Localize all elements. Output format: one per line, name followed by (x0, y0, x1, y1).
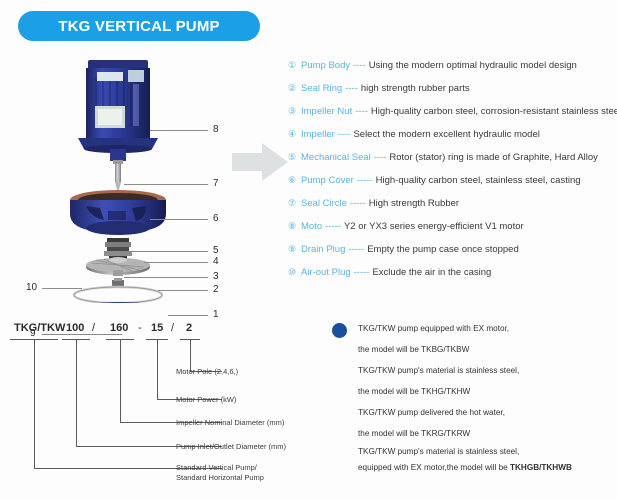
impeller-nut-part (112, 278, 124, 286)
legend-desc-10: Exclude the air in the casing (372, 267, 491, 278)
legend-dashes-3: ---- (355, 106, 368, 117)
note-line-6: the model will be TKRG/TKRW (358, 423, 614, 444)
pump-body-part (54, 302, 186, 303)
legend-part-6: Pump Cover (301, 175, 354, 186)
callout-number-4: 4 (213, 257, 219, 267)
model-code-diagram: TKG/TKW 100 160 15 2 / - / Motor Pole (2… (0, 305, 320, 500)
legend-item-9: ⑨ Drain Plug ----- Empty the pump case o… (288, 244, 613, 267)
page-title: TKG VERTICAL PUMP (58, 18, 219, 35)
legend-index-4: ④ (288, 129, 301, 140)
code-token-series: TKG/TKW (14, 323, 65, 334)
legend-part-1: Pump Body (301, 60, 350, 71)
callout-number-7: 7 (213, 179, 219, 189)
legend-dashes-10: ----- (354, 267, 370, 278)
code-token-motor-power: 15 (151, 323, 163, 334)
legend-item-10: ⑩ Air-out Plug ----- Exclude the air in … (288, 267, 613, 290)
model-naming-notes: TKG/TKW pump equipped with EX motor, the… (332, 318, 614, 476)
legend-dashes-7: ----- (350, 198, 366, 209)
pump-exploded-figure: 8 7 6 5 4 3 2 1 10 9 (0, 48, 250, 303)
code-label-standard-horizontal: Standard Horizontal Pump (176, 473, 264, 483)
callout-line-8 (150, 130, 208, 131)
bullet-dot-icon (332, 323, 347, 338)
legend-part-8: Moto (301, 221, 322, 232)
legend-item-4: ④ Impeller ---- Select the modern excell… (288, 129, 613, 152)
note-line-8: equipped with EX motor,the model will be… (358, 460, 614, 476)
note-line-3: TKG/TKW pump's material is stainless ste… (358, 360, 614, 381)
seal-ring-part (74, 287, 162, 303)
legend-item-7: ⑦ Seal Circle ----- High strength Rubber (288, 198, 613, 221)
motor-part (78, 60, 158, 153)
legend-item-5: ⑤ Mechanical Seal ---- Rotor (stator) ri… (288, 152, 613, 175)
callout-line-4 (144, 262, 208, 263)
note-line-4: the model will be TKHG/TKHW (358, 381, 614, 402)
callout-line-10 (42, 288, 82, 289)
legend-desc-4: Select the modern excellent hydraulic mo… (353, 129, 539, 140)
callout-number-10: 10 (26, 283, 37, 293)
note-line-2: the model will be TKBG/TKBW (358, 339, 614, 360)
impeller-part (86, 257, 150, 276)
legend-desc-9: Empty the pump case once stopped (367, 244, 519, 255)
legend-dashes-2: ---- (345, 83, 358, 94)
legend-index-7: ⑦ (288, 198, 301, 209)
legend-part-5: Mechanical Seal (301, 152, 371, 163)
callout-number-2: 2 (213, 285, 219, 295)
mechanical-seal-part (104, 238, 132, 259)
callout-line-7 (124, 184, 208, 185)
parts-legend-list: ① Pump Body ---- Using the modern optima… (288, 60, 613, 290)
legend-index-8: ⑧ (288, 221, 301, 232)
note-line-7: TKG/TKW pump's material is stainless ste… (358, 444, 614, 460)
legend-item-1: ① Pump Body ---- Using the modern optima… (288, 60, 613, 83)
legend-index-5: ⑤ (288, 152, 301, 163)
code-token-impeller-diameter: 160 (110, 323, 128, 334)
legend-dashes-1: ---- (353, 60, 366, 71)
callout-line-5 (126, 251, 208, 252)
note-line-8-text: equipped with EX motor,the model will be (358, 463, 510, 472)
note-line-8-model: TKHGB/TKHWB (510, 463, 572, 472)
legend-index-6: ⑥ (288, 175, 301, 186)
code-label-impeller-diameter: Impeller Nominal Diameter (mm) (176, 418, 284, 428)
catalog-page: TKG VERTICAL PUMP (0, 0, 617, 500)
legend-part-3: Impeller Nut (301, 106, 352, 117)
legend-desc-3: High-quality carbon steel, corrosion-res… (371, 106, 617, 117)
code-dropline-series (34, 339, 35, 468)
code-label-motor-power: Motor Power (kW) (176, 395, 236, 405)
legend-desc-5: Rotor (stator) ring is made of Graphite,… (389, 152, 598, 163)
code-separator-1: / (92, 323, 95, 334)
legend-index-9: ⑨ (288, 244, 301, 255)
callout-line-3 (124, 277, 208, 278)
callout-number-5: 5 (213, 246, 219, 256)
legend-item-3: ③ Impeller Nut ---- High-quality carbon … (288, 106, 613, 129)
code-dropline-inlet (76, 339, 77, 446)
legend-part-2: Seal Ring (301, 83, 342, 94)
legend-dashes-9: ----- (348, 244, 364, 255)
code-label-inlet-diameter: Pump Inlet/Outlet Diameter (mm) (176, 442, 286, 452)
code-dropline-impeller (120, 339, 121, 422)
notes-line-list: TKG/TKW pump equipped with EX motor, the… (358, 318, 614, 476)
note-line-5: TKG/TKW pump delivered the hot water, (358, 402, 614, 423)
arrow-right-icon (232, 140, 292, 184)
legend-dashes-6: ----- (357, 175, 373, 186)
callout-line-2 (158, 290, 208, 291)
legend-part-7: Seal Circle (301, 198, 347, 209)
code-label-standard-vertical: Standard Vertical Pump/ (176, 463, 257, 473)
legend-part-4: Impeller (301, 129, 335, 140)
legend-part-9: Drain Plug (301, 244, 345, 255)
legend-dashes-4: ---- (338, 129, 351, 140)
callout-line-6 (150, 219, 208, 220)
code-dropline-power (157, 339, 158, 399)
legend-dashes-8: ----- (325, 221, 341, 232)
callout-number-3: 3 (213, 272, 219, 282)
code-separator-3: / (171, 323, 174, 334)
legend-item-8: ⑧ Moto ----- Y2 or YX3 series energy-eff… (288, 221, 613, 244)
legend-desc-6: High-quality carbon steel, stainless ste… (376, 175, 581, 186)
legend-desc-8: Y2 or YX3 series energy-efficient V1 mot… (344, 221, 524, 232)
callout-number-8: 8 (213, 125, 219, 135)
legend-index-1: ① (288, 60, 301, 71)
legend-desc-2: high strength rubber parts (361, 83, 470, 94)
callout-number-6: 6 (213, 214, 219, 224)
code-token-inlet-diameter: 100 (66, 323, 84, 334)
legend-desc-1: Using the modern optimal hydraulic model… (369, 60, 577, 71)
legend-dashes-5: ---- (374, 152, 387, 163)
code-token-motor-pole: 2 (186, 323, 192, 334)
legend-desc-7: High strength Rubber (369, 198, 459, 209)
pump-cover-part (70, 190, 166, 235)
note-line-1: TKG/TKW pump equipped with EX motor, (358, 318, 614, 339)
legend-index-2: ② (288, 83, 301, 94)
page-title-banner: TKG VERTICAL PUMP (18, 11, 260, 41)
legend-index-10: ⑩ (288, 267, 301, 278)
legend-item-6: ⑥ Pump Cover ----- High-quality carbon s… (288, 175, 613, 198)
legend-part-10: Air-out Plug (301, 267, 351, 278)
code-label-motor-pole: Motor Pole (2,4,6,) (176, 367, 238, 377)
legend-item-2: ② Seal Ring ---- high strength rubber pa… (288, 83, 613, 106)
code-separator-2: - (138, 323, 142, 334)
legend-index-3: ③ (288, 106, 301, 117)
